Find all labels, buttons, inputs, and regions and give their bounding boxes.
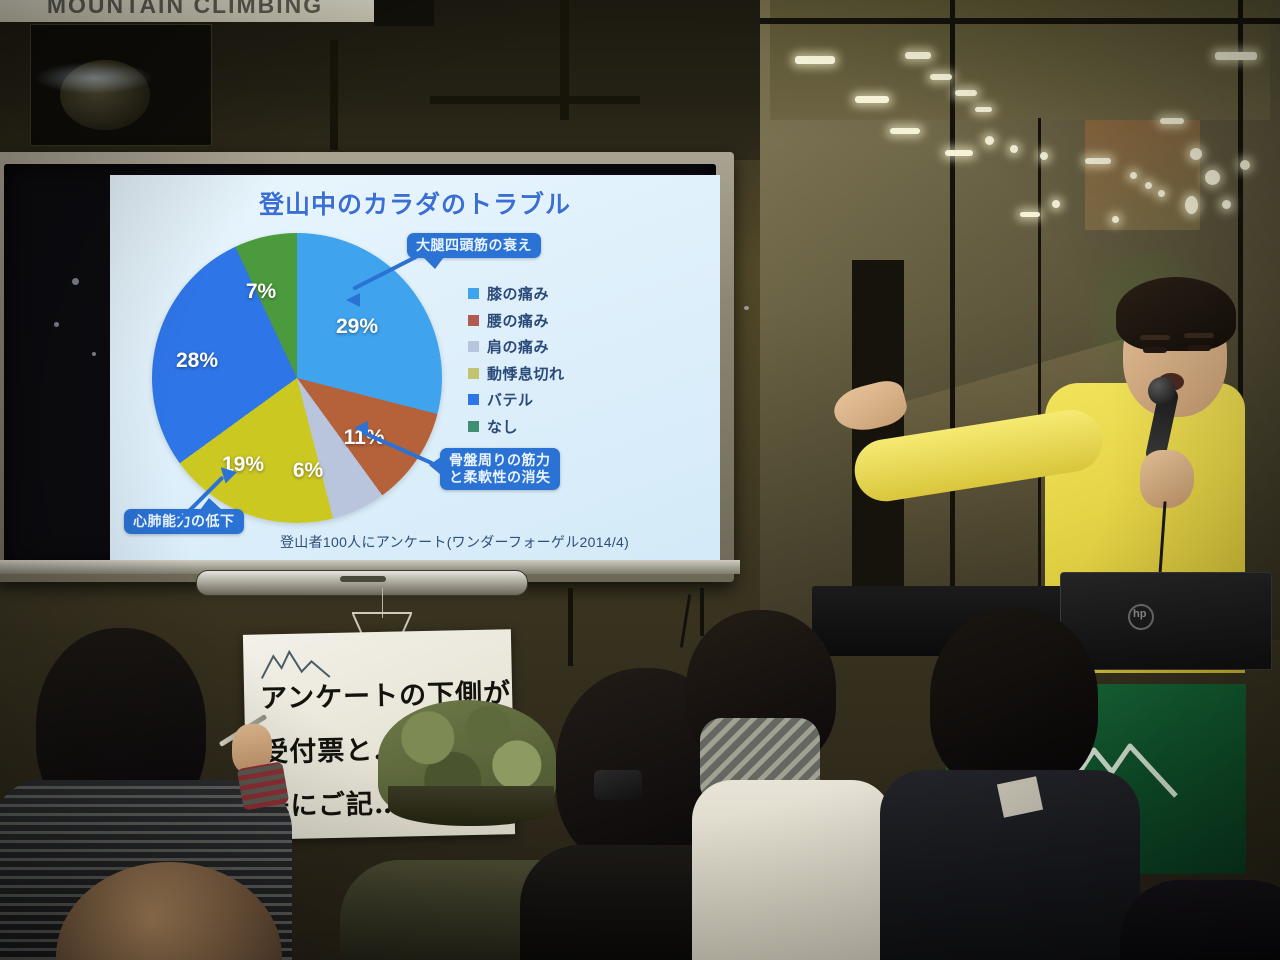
audience-shoulders [1120, 880, 1280, 960]
window-header [760, 18, 1280, 24]
slice-label-4: 28% [176, 349, 218, 373]
tv-stand-leg [568, 588, 573, 666]
callout-pelvis: 骨盤周りの筋力 と柔軟性の消失 [440, 448, 560, 490]
ceiling-light [1222, 200, 1231, 209]
legend-swatch-icon [468, 341, 479, 352]
ceiling-light [1052, 200, 1060, 208]
legend-swatch-icon [468, 421, 479, 432]
presenter-hair [1116, 277, 1236, 351]
presenter-mic-hand [1140, 450, 1194, 508]
legend-item: なし [468, 416, 565, 437]
ceiling-light [890, 128, 920, 134]
ceiling-light [985, 136, 994, 145]
banner-edge-shadow [374, 0, 434, 26]
audience-head [930, 608, 1098, 792]
ceiling-light [1160, 118, 1184, 124]
ceiling-light [855, 96, 889, 103]
legend-label: なし [487, 416, 518, 437]
slide-title: 登山中のカラダのトラブル [110, 185, 720, 221]
legend-label: 動悸息切れ [487, 363, 565, 384]
tv-stand-notch [340, 576, 386, 582]
ceiling-beam-1 [330, 40, 338, 150]
legend-label: バテル [487, 389, 534, 410]
legend-label: 腰の痛み [487, 310, 549, 331]
callout-arrow-pelvis [354, 421, 368, 435]
ceiling-light [1130, 172, 1137, 179]
wall-poster [1085, 120, 1200, 230]
screen-glare [34, 62, 154, 94]
presenter-pointing-hand [830, 377, 911, 437]
ceiling-light [975, 107, 992, 112]
callout-quadriceps: 大腿四頭筋の衰え [407, 233, 541, 258]
screen-speck [72, 278, 79, 285]
ceiling-light [1205, 170, 1220, 185]
ceiling-light [1185, 196, 1198, 214]
tv-stand-leg [700, 588, 704, 636]
presenter-brow [1140, 335, 1170, 340]
presenter-eye [1187, 345, 1211, 351]
legend-label: 膝の痛み [487, 283, 549, 304]
ceiling-light [930, 74, 952, 80]
screen-speck [54, 322, 59, 327]
venue-banner-text: MOUNTAIN CLIMBING [47, 0, 323, 19]
ceiling-light [1158, 190, 1165, 197]
presenter-eye [1143, 347, 1167, 353]
legend-swatch-icon [468, 315, 479, 326]
audience-sleeve-cuff [237, 761, 290, 810]
legend-label: 肩の痛み [487, 336, 549, 357]
ceiling-light [1040, 152, 1048, 160]
legend-swatch-icon [468, 288, 479, 299]
slice-label-0: 29% [336, 315, 378, 339]
cap-brim [388, 786, 554, 826]
legend-item: バテル [468, 389, 565, 410]
screen-speck [92, 352, 96, 356]
ceiling-light [1145, 182, 1152, 189]
legend-item: 膝の痛み [468, 283, 565, 304]
callout-arrow-quadriceps [346, 293, 360, 307]
ceiling-light [1215, 52, 1257, 60]
chart-legend: 膝の痛み 腰の痛み 肩の痛み 動悸息切れ バテル なし [468, 283, 565, 442]
ceiling-light [1112, 216, 1119, 223]
legend-item: 動悸息切れ [468, 363, 565, 384]
legend-swatch-icon [468, 394, 479, 405]
venue-banner: MOUNTAIN CLIMBING [0, 0, 374, 22]
slice-label-2: 6% [293, 459, 323, 483]
legend-item: 肩の痛み [468, 336, 565, 357]
ceiling-light [1190, 148, 1202, 160]
ceiling-light [955, 90, 977, 96]
ceiling-light [795, 56, 835, 64]
legend-item: 腰の痛み [468, 310, 565, 331]
audience-white-top [692, 780, 892, 960]
ceiling-light [945, 150, 973, 156]
photograph: MOUNTAIN CLIMBING 登山中のカラダのトラブル [0, 0, 1280, 960]
laptop-brand-logo-icon: hp [1128, 604, 1154, 630]
legend-swatch-icon [468, 368, 479, 379]
presentation-slide: 登山中のカラダのトラブル 29% 11% 6% 19% 28% 7% 膝の痛み … [110, 175, 720, 560]
ceiling-light [1240, 160, 1250, 170]
ceiling-light [1085, 158, 1111, 164]
tv-stand-bar [196, 570, 528, 596]
ceiling-light [1010, 145, 1018, 153]
laptop [1060, 572, 1272, 670]
ceiling-light [905, 52, 931, 59]
microphone-head-icon [1148, 377, 1175, 405]
hair-clip [594, 770, 642, 800]
screen-speck [744, 306, 749, 310]
presenter-brow [1184, 333, 1214, 338]
ceiling-beam-3 [430, 96, 640, 104]
pie-chart: 29% 11% 6% 19% 28% 7% [152, 233, 462, 523]
ceiling-light [1020, 212, 1040, 217]
slice-label-5: 7% [246, 280, 276, 304]
slide-footnote: 登山者100人にアンケート(ワンダーフォーゲル2014/4) [280, 532, 629, 552]
